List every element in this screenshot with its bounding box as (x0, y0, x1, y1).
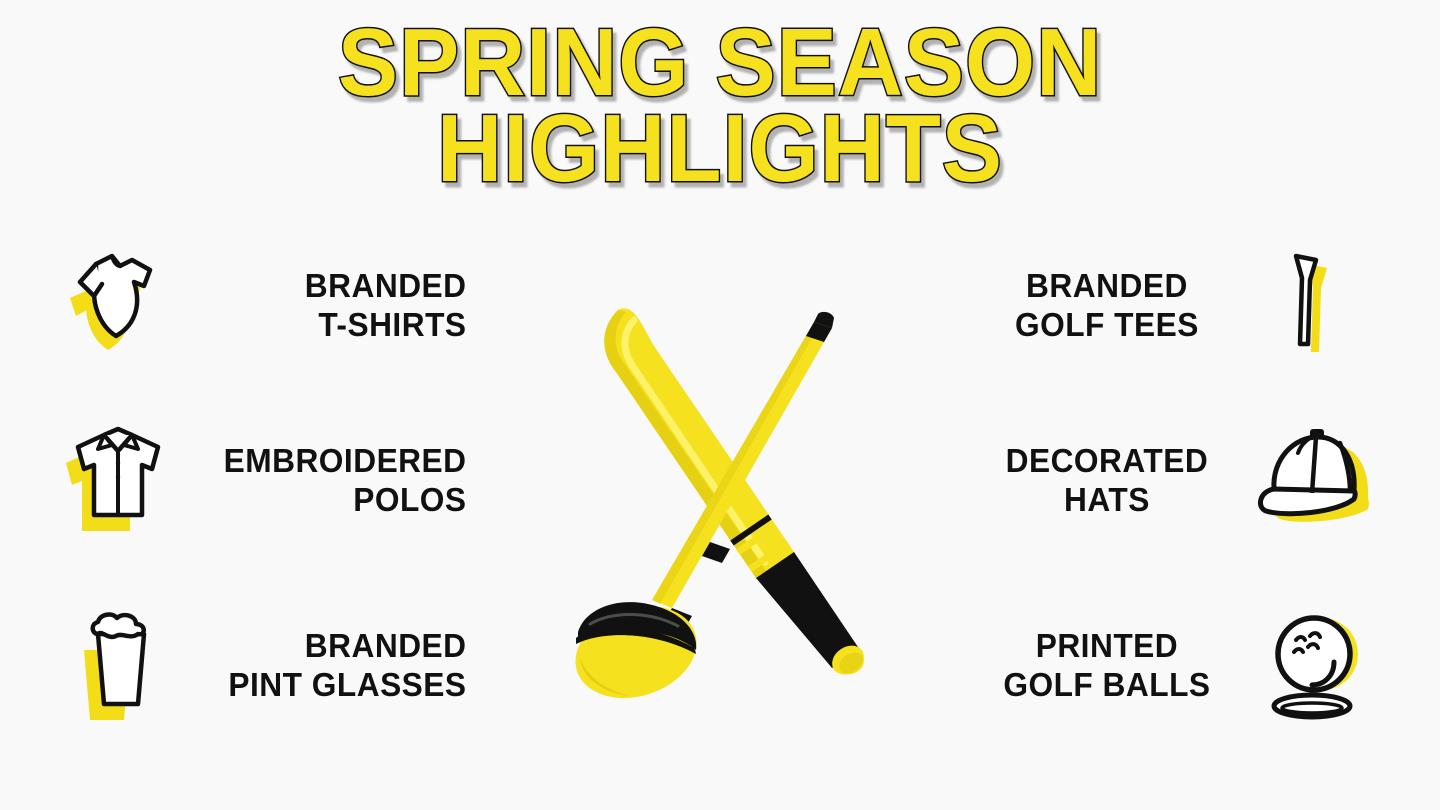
list-item-decorated-hats: DECORATED HATS (960, 405, 1380, 555)
list-item-label: EMBROIDERED POLOS (196, 441, 474, 519)
label-line-1: BRANDED (196, 626, 467, 665)
label-line-1: BRANDED (196, 266, 467, 305)
golf-club-driver (563, 312, 834, 713)
label-line-2: HATS (970, 480, 1245, 519)
label-line-2: T-SHIRTS (196, 305, 467, 344)
baseball-cap-icon (1250, 415, 1380, 545)
polo-shirt-icon (60, 415, 190, 545)
list-item-label: DECORATED HATS (966, 441, 1244, 519)
title-line-1: SPRING SEASON (43, 20, 1397, 106)
label-line-2: GOLF BALLS (970, 665, 1245, 704)
list-item-embroidered-polos: EMBROIDERED POLOS (60, 405, 480, 555)
list-item-branded-pint-glasses: BRANDED PINT GLASSES (60, 590, 480, 740)
list-item-label: BRANDED T-SHIRTS (196, 266, 474, 344)
list-item-printed-golf-balls: PRINTED GOLF BALLS (960, 590, 1380, 740)
slide-canvas: SPRING SEASON HIGHLIGHTS (0, 0, 1440, 810)
golf-ball-icon (1250, 600, 1380, 730)
label-line-1: PRINTED (970, 626, 1245, 665)
t-shirt-icon (60, 240, 190, 370)
pint-glass-icon (60, 600, 190, 730)
list-item-branded-tshirts: BRANDED T-SHIRTS (60, 230, 480, 380)
label-line-2: PINT GLASSES (196, 665, 467, 704)
label-line-1: BRANDED (970, 266, 1245, 305)
label-line-1: EMBROIDERED (196, 441, 467, 480)
list-item-label: BRANDED PINT GLASSES (196, 626, 474, 704)
label-line-1: DECORATED (970, 441, 1245, 480)
list-item-label: PRINTED GOLF BALLS (966, 626, 1244, 704)
label-line-2: GOLF TEES (970, 305, 1245, 344)
page-title: SPRING SEASON HIGHLIGHTS (0, 20, 1440, 192)
crossed-bat-and-club-illustration (560, 260, 890, 680)
title-line-2: HIGHLIGHTS (43, 106, 1397, 192)
label-line-2: POLOS (196, 480, 467, 519)
list-item-label: BRANDED GOLF TEES (966, 266, 1244, 344)
list-item-branded-golf-tees: BRANDED GOLF TEES (960, 230, 1380, 380)
golf-tee-icon (1250, 240, 1380, 370)
